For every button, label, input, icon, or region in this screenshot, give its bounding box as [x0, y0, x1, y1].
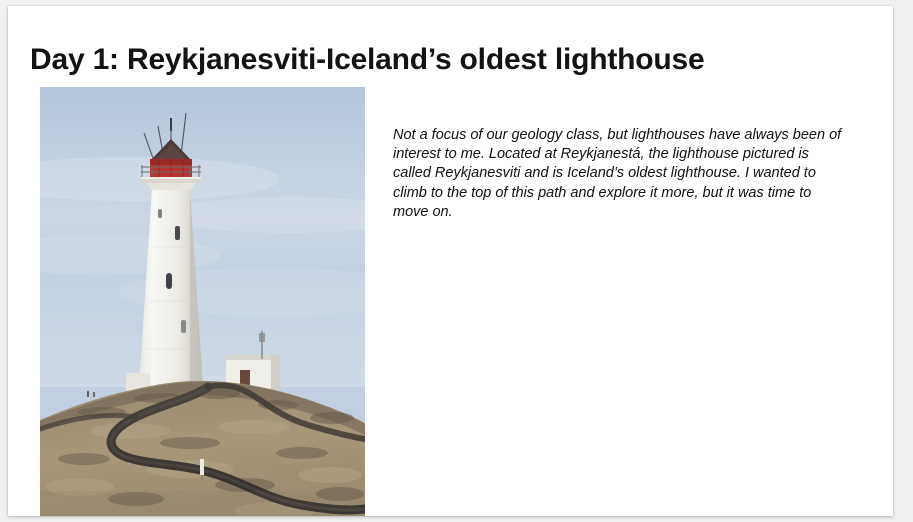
presentation-slide: Day 1: Reykjanesviti-Iceland’s oldest li…	[8, 6, 893, 516]
lighthouse-photo	[40, 87, 365, 516]
photo-caption: Not a focus of our geology class, but li…	[393, 126, 848, 222]
lighthouse-photo-graphic	[40, 87, 365, 516]
page-title: Day 1: Reykjanesviti-Iceland’s oldest li…	[30, 42, 705, 78]
